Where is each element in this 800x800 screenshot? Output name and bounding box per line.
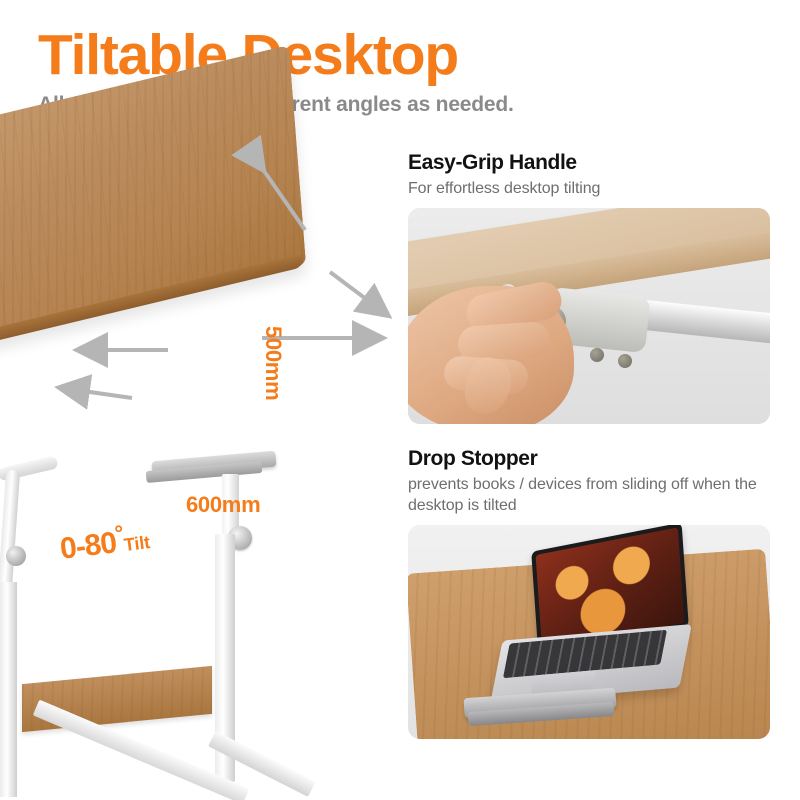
dimension-label-depth: 500mm [260, 326, 286, 400]
tiltable-desktop-board [0, 130, 360, 410]
feature-description: prevents books / devices from sliding of… [408, 474, 770, 516]
laptop-on-tilted-desktop-with-stopper-photo [408, 525, 770, 739]
feature-description: For effortless desktop tilting [408, 178, 770, 199]
dimension-label-width: 600mm [186, 492, 260, 518]
degree-symbol: ° [113, 520, 124, 546]
tilt-range-value: 0-80 [58, 526, 118, 566]
joint-screw-left-icon [590, 348, 604, 362]
tilt-word: Tilt [123, 532, 151, 555]
feature-easy-grip-handle: Easy-Grip Handle For effortless desktop … [408, 150, 770, 424]
tilt-lock-knob [6, 546, 26, 566]
feature-title: Easy-Grip Handle [408, 150, 770, 175]
page-title: Tiltable Desktop [38, 24, 658, 86]
product-infographic: Tiltable Desktop Allows for viewing at d… [0, 0, 800, 800]
product-illustration: 500mm 600mm 0-80°Tilt [0, 130, 400, 800]
feature-drop-stopper: Drop Stopper prevents books / devices fr… [408, 446, 770, 739]
tilt-range-label: 0-80°Tilt [58, 517, 152, 567]
support-arm-left [0, 470, 20, 591]
joint-screw-right-icon [618, 354, 632, 368]
feature-list: Easy-Grip Handle For effortless desktop … [408, 150, 770, 739]
hand-gripping-tilt-handle-photo [408, 208, 770, 424]
feature-title: Drop Stopper [408, 446, 770, 471]
left-column [0, 582, 17, 797]
